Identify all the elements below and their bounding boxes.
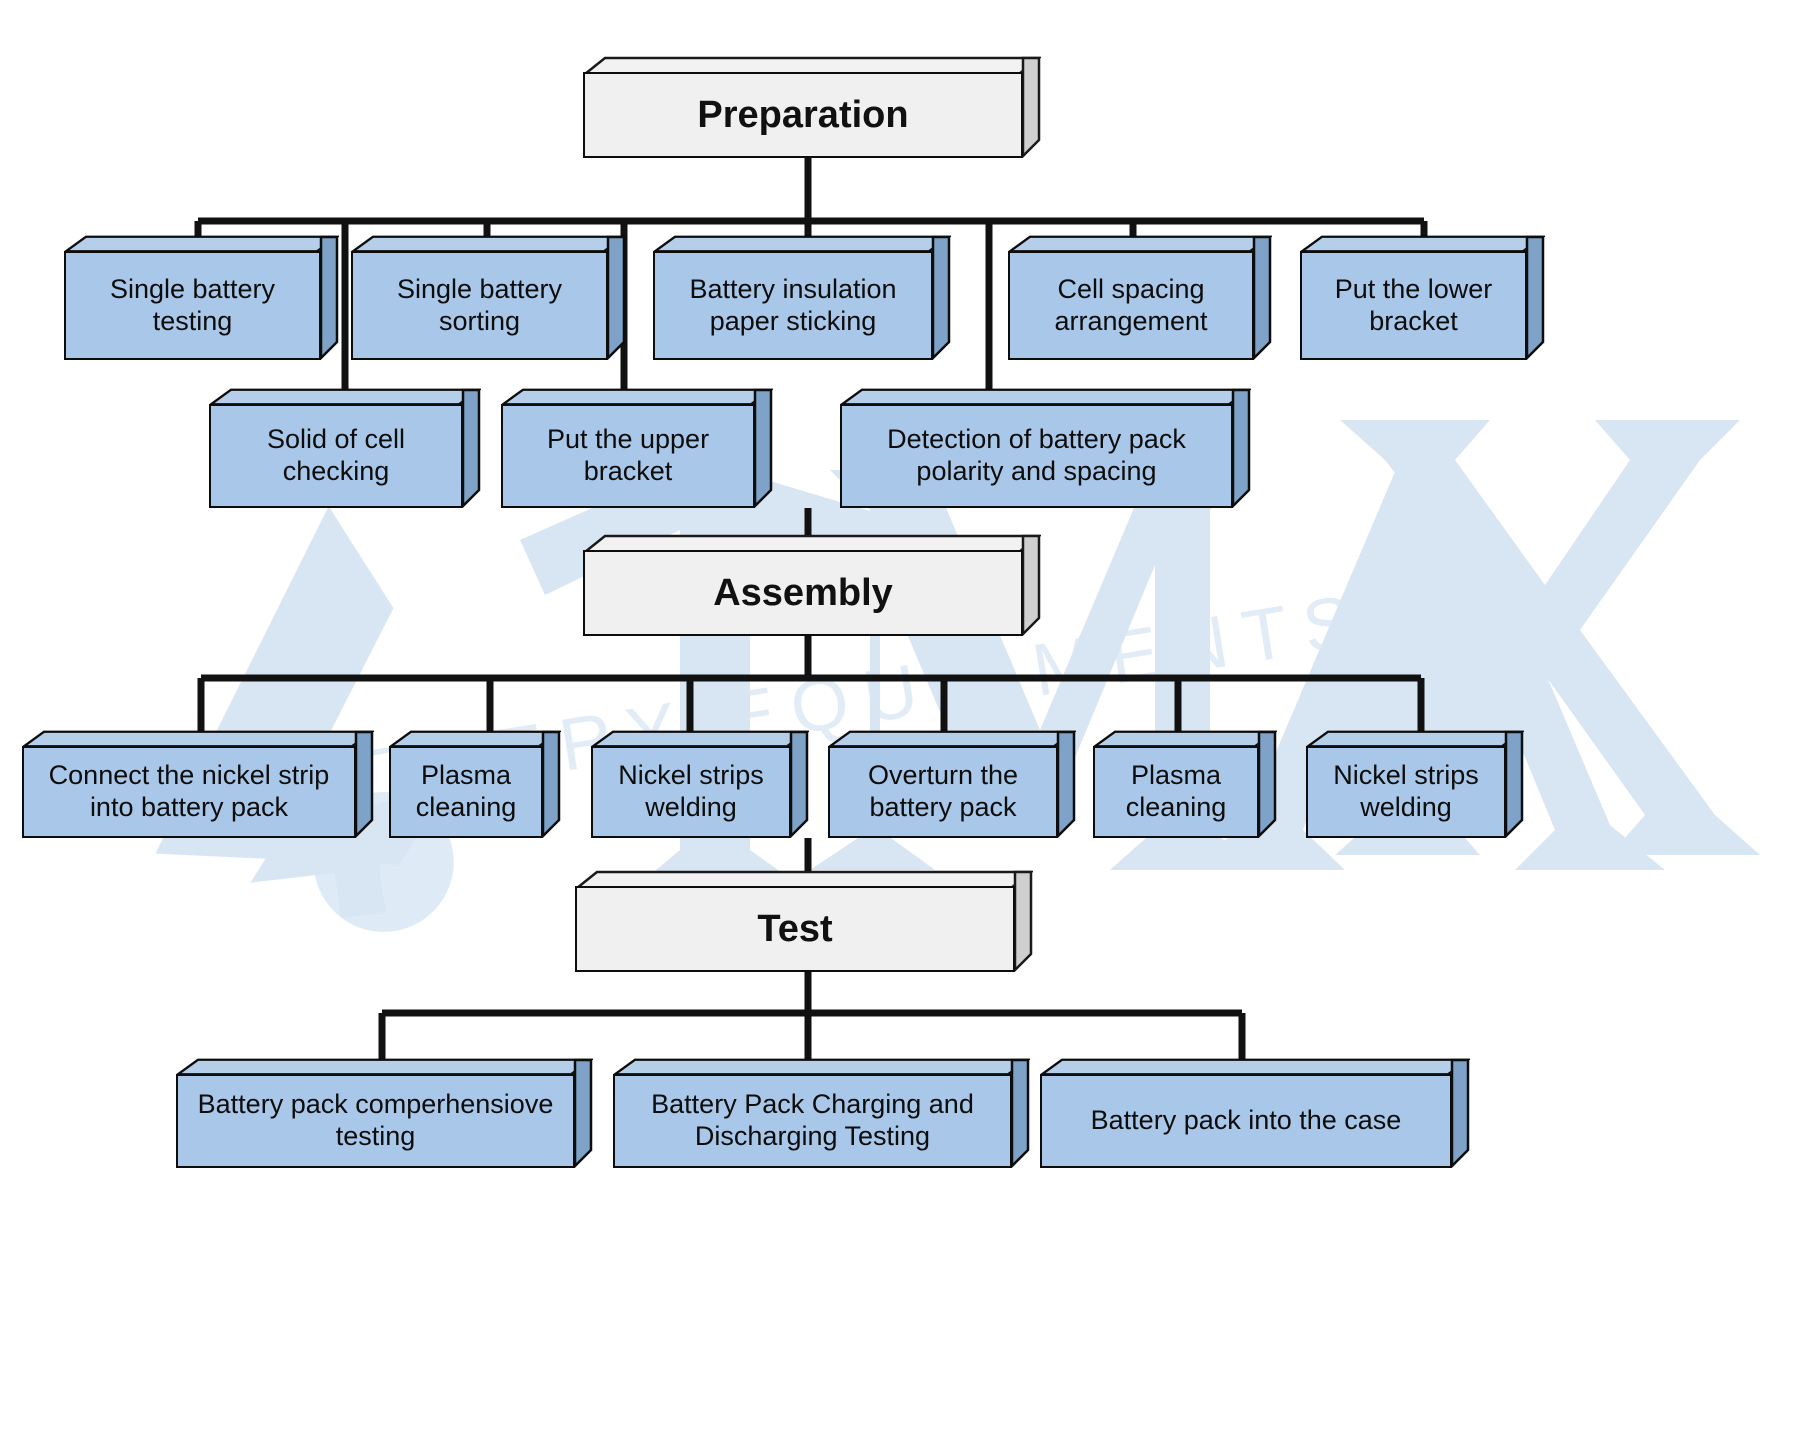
box-side-bevel	[1056, 730, 1076, 838]
box-side-bevel	[354, 730, 374, 838]
step-box-detection-of-battery-pack-polarity-and-spacing[interactable]: Detection of battery pack polarity and s…	[840, 388, 1251, 508]
step-box-single-battery-sorting[interactable]: Single battery sorting	[351, 235, 626, 360]
step-label: Overturn the battery pack	[830, 760, 1056, 824]
step-box-battery-insulation-paper-sticking[interactable]: Battery insulation paper sticking	[653, 235, 951, 360]
step-box-cell-spacing-arrangement[interactable]: Cell spacing arrangement	[1008, 235, 1272, 360]
box-side-bevel	[1021, 56, 1041, 158]
box-side-bevel	[606, 235, 626, 360]
stage-box-preparation[interactable]: Preparation	[583, 56, 1041, 158]
step-box-overturn-the-battery-pack[interactable]: Overturn the battery pack	[828, 730, 1076, 838]
box-side-bevel	[1021, 534, 1041, 636]
box-side-bevel	[1010, 1058, 1030, 1168]
stage-box-test[interactable]: Test	[575, 870, 1033, 972]
stage-box-assembly[interactable]: Assembly	[583, 534, 1041, 636]
step-box-plasma-cleaning-2[interactable]: Plasma cleaning	[1093, 730, 1277, 838]
box-side-bevel	[1231, 388, 1251, 508]
box-side-bevel	[1013, 870, 1033, 972]
step-label: Nickel strips welding	[593, 760, 789, 824]
step-label: Connect the nickel strip into battery pa…	[24, 760, 354, 824]
stage-label: Assembly	[703, 571, 903, 616]
step-box-put-the-lower-bracket[interactable]: Put the lower bracket	[1300, 235, 1545, 360]
step-box-nickel-strips-welding-2[interactable]: Nickel strips welding	[1306, 730, 1524, 838]
box-side-bevel	[1257, 730, 1277, 838]
box-side-bevel	[753, 388, 773, 508]
step-box-solid-of-cell-checking[interactable]: Solid of cell checking	[209, 388, 481, 508]
step-box-battery-pack-comperhensiove-testing[interactable]: Battery pack comperhensiove testing	[176, 1058, 593, 1168]
connector-lines	[0, 0, 1819, 1432]
stage-label: Preparation	[687, 93, 918, 138]
box-side-bevel	[1252, 235, 1272, 360]
step-box-nickel-strips-welding-1[interactable]: Nickel strips welding	[591, 730, 809, 838]
step-label: Battery insulation paper sticking	[655, 274, 931, 338]
step-label: Put the upper bracket	[503, 424, 753, 488]
step-box-battery-pack-charging-and-discharging-testing[interactable]: Battery Pack Charging and Discharging Te…	[613, 1058, 1030, 1168]
step-label: Plasma cleaning	[391, 760, 541, 824]
flowchart-canvas: BATTERY EQUIPMENTS	[0, 0, 1819, 1432]
step-label: Put the lower bracket	[1302, 274, 1525, 338]
box-side-bevel	[1450, 1058, 1470, 1168]
step-label: Single battery sorting	[353, 274, 606, 338]
box-side-bevel	[931, 235, 951, 360]
step-box-battery-pack-into-the-case[interactable]: Battery pack into the case	[1040, 1058, 1470, 1168]
step-box-single-battery-testing[interactable]: Single battery testing	[64, 235, 339, 360]
box-side-bevel	[541, 730, 561, 838]
step-box-put-the-upper-bracket[interactable]: Put the upper bracket	[501, 388, 773, 508]
step-box-connect-the-nickel-strip-into-battery-pack[interactable]: Connect the nickel strip into battery pa…	[22, 730, 374, 838]
step-label: Cell spacing arrangement	[1010, 274, 1252, 338]
step-label: Battery pack comperhensiove testing	[178, 1089, 573, 1153]
step-label: Battery Pack Charging and Discharging Te…	[615, 1089, 1010, 1153]
step-label: Plasma cleaning	[1095, 760, 1257, 824]
step-label: Solid of cell checking	[211, 424, 461, 488]
box-side-bevel	[461, 388, 481, 508]
box-side-bevel	[789, 730, 809, 838]
stage-label: Test	[747, 907, 842, 952]
step-label: Detection of battery pack polarity and s…	[842, 424, 1231, 488]
step-box-plasma-cleaning-1[interactable]: Plasma cleaning	[389, 730, 561, 838]
box-side-bevel	[573, 1058, 593, 1168]
box-side-bevel	[1504, 730, 1524, 838]
box-side-bevel	[1525, 235, 1545, 360]
step-label: Single battery testing	[66, 274, 319, 338]
step-label: Battery pack into the case	[1081, 1105, 1412, 1137]
box-side-bevel	[319, 235, 339, 360]
step-label: Nickel strips welding	[1308, 760, 1504, 824]
